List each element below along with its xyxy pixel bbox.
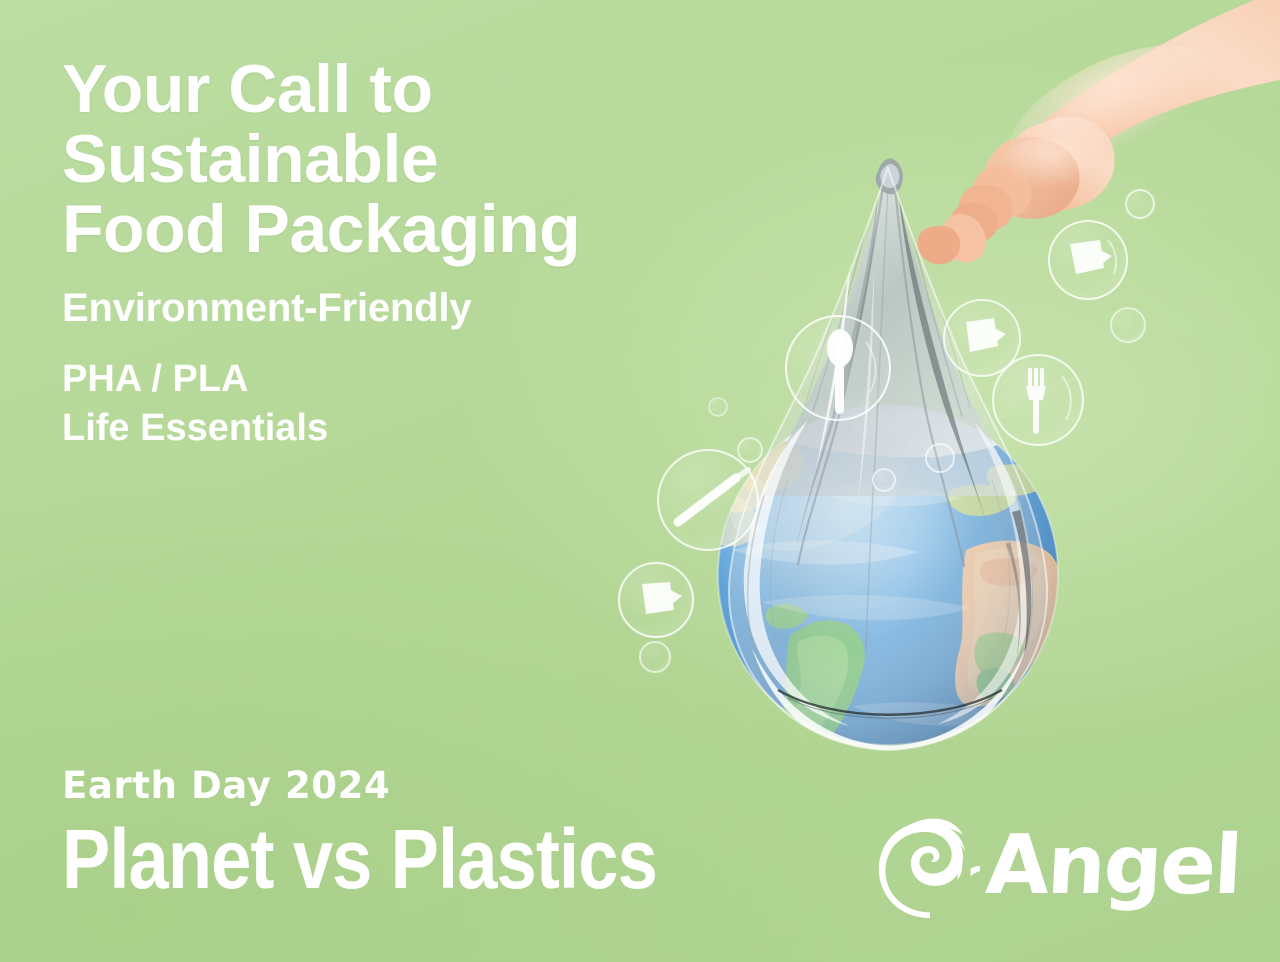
hand-holding-bag-image — [860, 0, 1280, 270]
angel-swirl-icon — [876, 814, 980, 918]
subheading: Environment-Friendly — [62, 286, 762, 331]
brand-logo: Angel — [876, 814, 1240, 918]
tagline-line-2: Life Essentials — [62, 404, 762, 453]
hand-icon — [860, 0, 1280, 270]
page-title: Your Call to Sustainable Food Packaging — [62, 54, 762, 264]
tagline-group: PHA / PLA Life Essentials — [62, 355, 762, 454]
campaign-headline: Planet vs Plastics — [62, 818, 657, 900]
headline-line-2: Sustainable — [62, 124, 762, 194]
headline-line-1: Your Call to — [62, 54, 762, 124]
logo-wordmark: Angel — [984, 825, 1243, 907]
tagline-line-1: PHA / PLA — [62, 355, 762, 404]
headline-line-3: Food Packaging — [62, 194, 762, 264]
campaign-eyebrow: Earth Day 2024 — [62, 767, 754, 804]
poster-canvas: Your Call to Sustainable Food Packaging … — [0, 0, 1280, 962]
campaign-group: Earth Day 2024 Planet vs Plastics — [62, 767, 754, 900]
headline-group: Your Call to Sustainable Food Packaging … — [62, 54, 762, 454]
